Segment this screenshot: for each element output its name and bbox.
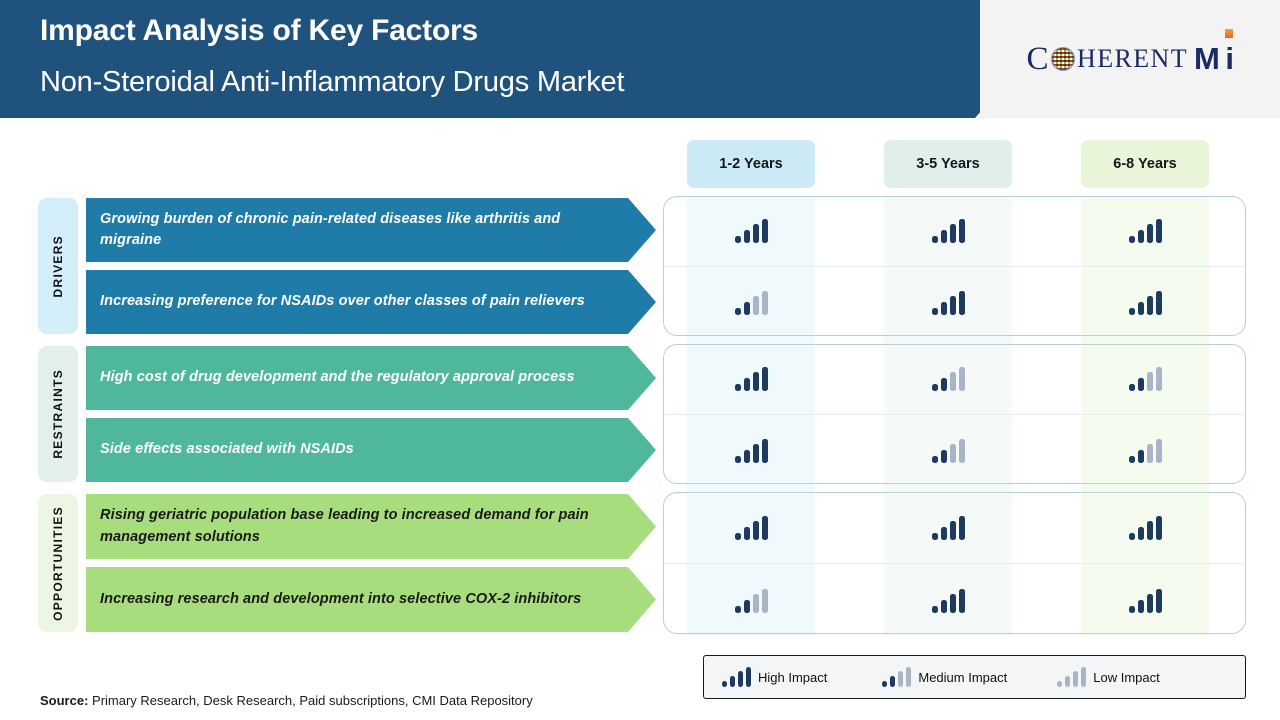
bar-segment — [1138, 600, 1144, 613]
logo-text-herent: HERENT — [1077, 44, 1188, 74]
bar-segment — [941, 302, 947, 315]
bar-segment — [1138, 302, 1144, 315]
bar-segment — [762, 516, 768, 540]
source-text: Primary Research, Desk Research, Paid su… — [88, 693, 532, 708]
bar-segment — [950, 372, 956, 391]
bar-segment — [744, 378, 750, 391]
impact-cell — [687, 496, 815, 559]
bar-segment — [950, 444, 956, 463]
legend-item-low-impact: Low Impact — [1057, 667, 1159, 687]
bar-segment — [959, 367, 965, 391]
bar-segment — [941, 527, 947, 540]
bar-level-icon — [932, 589, 965, 613]
logo-accent-bar — [1225, 29, 1233, 38]
bar-segment — [735, 533, 741, 540]
bar-segment — [1147, 296, 1153, 315]
bar-level-icon — [1129, 439, 1162, 463]
factor-arrow-opportunities-2[interactable]: Increasing research and development into… — [86, 567, 656, 632]
bar-segment — [898, 671, 903, 687]
impact-cell — [1081, 348, 1209, 410]
bar-segment — [941, 230, 947, 243]
page-subtitle: Non-Steroidal Anti-Inflammatory Drugs Ma… — [40, 66, 624, 99]
factor-arrow-drivers-1[interactable]: Growing burden of chronic pain-related d… — [86, 198, 656, 262]
bar-segment — [753, 594, 759, 613]
legend-item-high-impact: High Impact — [722, 667, 827, 687]
bar-segment — [906, 667, 911, 687]
bar-level-icon — [735, 516, 768, 540]
bar-segment — [735, 236, 741, 243]
bar-segment — [1156, 439, 1162, 463]
bar-level-icon — [1129, 291, 1162, 315]
column-header-1-2-years[interactable]: 1-2 Years — [687, 140, 815, 188]
bar-segment — [1129, 236, 1135, 243]
bar-level-icon — [735, 589, 768, 613]
impact-cell — [884, 272, 1012, 334]
bar-level-icon — [1129, 589, 1162, 613]
group-label-opportunities: OPPORTUNITIES — [38, 494, 78, 632]
bar-segment — [959, 291, 965, 315]
source-prefix: Source: — [40, 693, 88, 708]
brand-logo-panel: C HERENT M i — [980, 0, 1280, 118]
legend-item-medium-impact: Medium Impact — [882, 667, 1007, 687]
bar-segment — [1129, 308, 1135, 315]
bar-segment — [762, 367, 768, 391]
bar-segment — [1156, 219, 1162, 243]
bar-level-icon — [932, 219, 965, 243]
legend-label: Low Impact — [1093, 670, 1159, 685]
bar-segment — [1129, 533, 1135, 540]
impact-cell — [1081, 420, 1209, 482]
factor-text: Increasing research and development into… — [100, 589, 581, 610]
bar-segment — [959, 516, 965, 540]
bar-segment — [1147, 444, 1153, 463]
bar-segment — [941, 378, 947, 391]
bar-segment — [1081, 667, 1086, 687]
logo-text-i: i — [1225, 41, 1233, 77]
legend: High Impact Medium Impact Low Impact — [703, 655, 1246, 699]
bar-level-icon — [735, 219, 768, 243]
group-label-drivers: DRIVERS — [38, 198, 78, 334]
bar-segment — [744, 450, 750, 463]
bar-segment — [1147, 521, 1153, 540]
factor-text: Side effects associated with NSAIDs — [100, 439, 354, 460]
bar-segment — [1129, 606, 1135, 613]
row-separator — [665, 414, 1244, 415]
bar-segment — [932, 236, 938, 243]
bar-segment — [1156, 516, 1162, 540]
source-note: Source: Primary Research, Desk Research,… — [40, 693, 533, 708]
bar-segment — [735, 384, 741, 391]
bar-segment — [1138, 230, 1144, 243]
factor-arrow-restraints-1[interactable]: High cost of drug development and the re… — [86, 346, 656, 410]
bar-segment — [1147, 224, 1153, 243]
impact-cell — [687, 420, 815, 482]
bar-level-icon — [735, 291, 768, 315]
bar-level-icon — [1129, 367, 1162, 391]
bar-segment — [932, 606, 938, 613]
bar-segment — [744, 230, 750, 243]
bar-segment — [1147, 594, 1153, 613]
bar-segment — [882, 681, 887, 687]
bar-segment — [932, 308, 938, 315]
factor-arrow-restraints-2[interactable]: Side effects associated with NSAIDs — [86, 418, 656, 482]
factor-text: High cost of drug development and the re… — [100, 367, 575, 388]
impact-analysis-infographic: Impact Analysis of Key Factors Non-Stero… — [0, 0, 1280, 720]
bar-segment — [762, 589, 768, 613]
group-label-restraints: RESTRAINTS — [38, 346, 78, 482]
globe-icon — [1051, 47, 1075, 71]
bar-segment — [1156, 367, 1162, 391]
bar-segment — [1147, 372, 1153, 391]
bar-segment — [735, 606, 741, 613]
bar-segment — [753, 521, 759, 540]
bar-level-icon — [722, 667, 751, 687]
bar-segment — [1156, 291, 1162, 315]
row-separator — [665, 266, 1244, 267]
bar-segment — [932, 384, 938, 391]
bar-segment — [744, 527, 750, 540]
bar-segment — [950, 594, 956, 613]
bar-segment — [722, 681, 727, 687]
bar-segment — [1138, 527, 1144, 540]
legend-label: Medium Impact — [918, 670, 1007, 685]
impact-cell — [884, 200, 1012, 262]
bar-level-icon — [1129, 516, 1162, 540]
bar-segment — [932, 456, 938, 463]
bar-segment — [1073, 671, 1078, 687]
column-header-6-8-years[interactable]: 6-8 Years — [1081, 140, 1209, 188]
bar-segment — [762, 291, 768, 315]
impact-cell — [884, 569, 1012, 632]
bar-level-icon — [932, 439, 965, 463]
bar-level-icon — [735, 439, 768, 463]
column-header-3-5-years[interactable]: 3-5 Years — [884, 140, 1012, 188]
impact-cell — [1081, 496, 1209, 559]
bar-segment — [744, 302, 750, 315]
bar-level-icon — [1129, 219, 1162, 243]
bar-segment — [735, 456, 741, 463]
impact-cell — [1081, 272, 1209, 334]
bar-segment — [735, 308, 741, 315]
bar-segment — [959, 589, 965, 613]
bar-segment — [1138, 378, 1144, 391]
impact-cell — [687, 272, 815, 334]
bar-level-icon — [932, 516, 965, 540]
bar-segment — [950, 224, 956, 243]
bar-segment — [1129, 384, 1135, 391]
bar-segment — [762, 219, 768, 243]
bar-segment — [753, 296, 759, 315]
bar-segment — [753, 224, 759, 243]
bar-segment — [1065, 676, 1070, 687]
bar-segment — [959, 439, 965, 463]
page-title: Impact Analysis of Key Factors — [40, 14, 478, 48]
bar-segment — [1138, 450, 1144, 463]
bar-segment — [890, 676, 895, 687]
bar-level-icon — [735, 367, 768, 391]
impact-cell — [687, 200, 815, 262]
impact-cell — [884, 348, 1012, 410]
bar-segment — [753, 444, 759, 463]
bar-segment — [932, 533, 938, 540]
logo-i-glyph: i — [1225, 41, 1233, 76]
factor-text: Increasing preference for NSAIDs over ot… — [100, 291, 585, 312]
bar-segment — [941, 600, 947, 613]
bar-segment — [1129, 456, 1135, 463]
bar-segment — [738, 671, 743, 687]
impact-cell — [884, 420, 1012, 482]
bar-segment — [1057, 681, 1062, 687]
factor-text: Rising geriatric population base leading… — [100, 505, 622, 547]
legend-label: High Impact — [758, 670, 827, 685]
bar-segment — [1156, 589, 1162, 613]
bar-level-icon — [1057, 667, 1086, 687]
bar-level-icon — [882, 667, 911, 687]
impact-cell — [1081, 200, 1209, 262]
bar-segment — [762, 439, 768, 463]
factor-arrow-opportunities-1[interactable]: Rising geriatric population base leading… — [86, 494, 656, 559]
impact-cell — [687, 348, 815, 410]
page-header: Impact Analysis of Key Factors Non-Stero… — [0, 0, 1280, 118]
bar-segment — [730, 676, 735, 687]
bar-segment — [744, 600, 750, 613]
factor-arrow-drivers-2[interactable]: Increasing preference for NSAIDs over ot… — [86, 270, 656, 334]
bar-segment — [941, 450, 947, 463]
bar-level-icon — [932, 291, 965, 315]
coherentmi-logo: C HERENT M i — [1027, 41, 1234, 78]
bar-segment — [950, 296, 956, 315]
bar-level-icon — [932, 367, 965, 391]
impact-cell — [1081, 569, 1209, 632]
bar-segment — [746, 667, 751, 687]
bar-segment — [753, 372, 759, 391]
impact-cell — [884, 496, 1012, 559]
logo-letter-c: C — [1027, 41, 1050, 78]
factor-text: Growing burden of chronic pain-related d… — [100, 209, 622, 251]
bar-segment — [950, 521, 956, 540]
impact-cell — [687, 569, 815, 632]
row-separator — [665, 563, 1244, 564]
logo-text-m: M — [1194, 41, 1219, 77]
bar-segment — [959, 219, 965, 243]
